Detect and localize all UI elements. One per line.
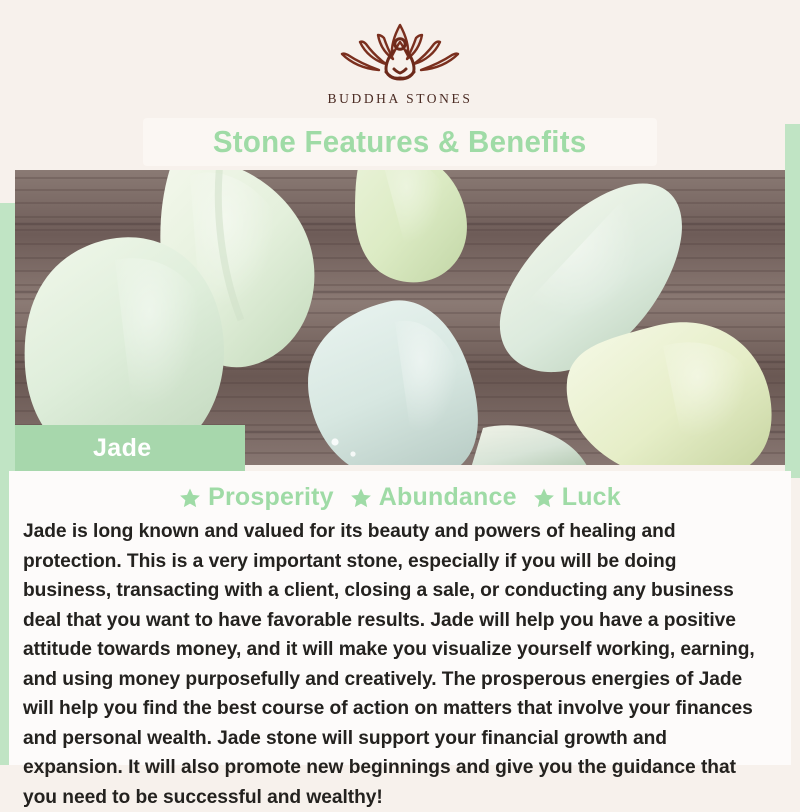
keyword-item-prosperity: Prosperity: [179, 483, 334, 512]
page-title: Stone Features & Benefits: [213, 124, 587, 160]
brand-name: BUDDHA STONES: [328, 91, 473, 107]
stone-name-text: Jade: [93, 434, 152, 463]
star-icon: [350, 487, 372, 509]
stone-description: Jade is long known and valued for its be…: [23, 517, 769, 812]
keyword-list: Prosperity Abundance Luck: [23, 483, 777, 512]
lotus-meditation-figure-icon: [334, 20, 466, 86]
keyword-label: Luck: [562, 483, 621, 512]
star-icon: [533, 487, 555, 509]
stone-name-label: Jade: [15, 425, 245, 471]
brand-header: BUDDHA STONES: [0, 0, 800, 124]
star-icon: [179, 487, 201, 509]
stone-benefits-panel: Prosperity Abundance Luck Jade is long k…: [9, 471, 791, 765]
keyword-label: Prosperity: [208, 483, 334, 512]
title-banner: Stone Features & Benefits: [143, 118, 657, 166]
stone-photo: [15, 170, 785, 465]
keyword-item-luck: Luck: [533, 483, 621, 512]
keyword-label: Abundance: [379, 483, 517, 512]
decorative-left-green-strip-text: [0, 455, 9, 785]
keyword-item-abundance: Abundance: [350, 483, 517, 512]
